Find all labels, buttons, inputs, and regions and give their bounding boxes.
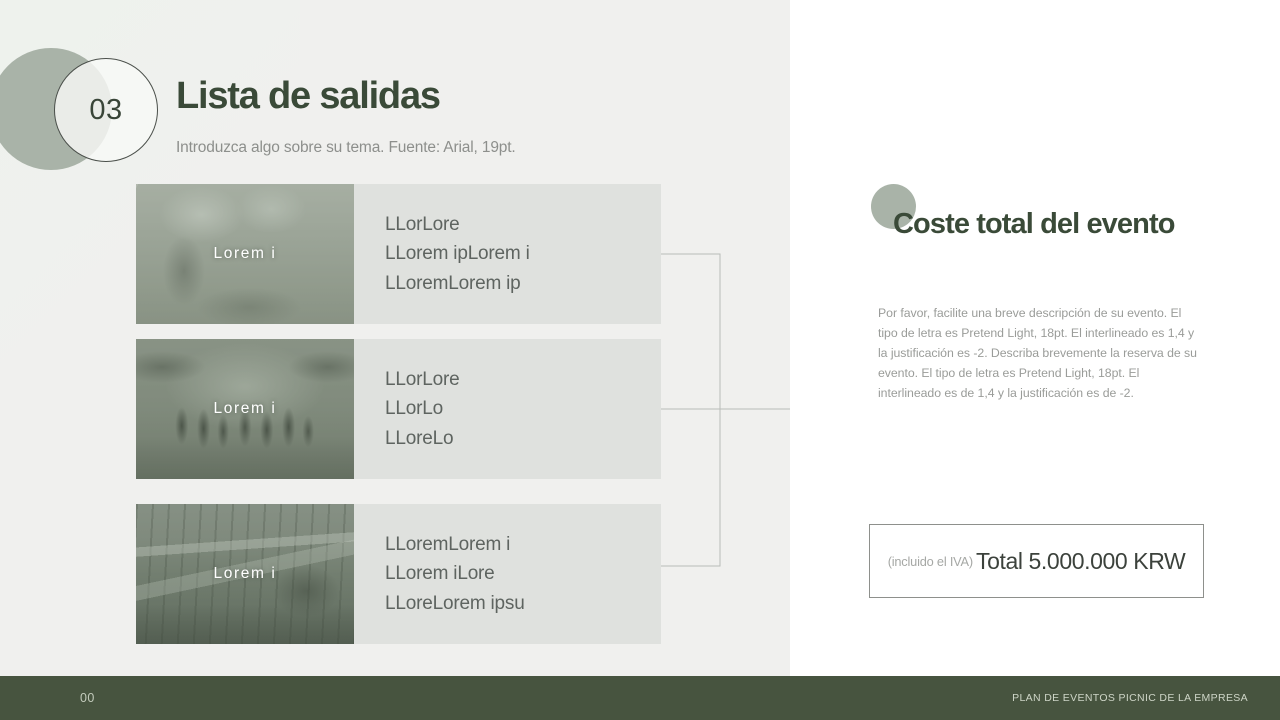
- people-jumping-photo: Lorem i: [136, 339, 354, 479]
- footer-page-number: 00: [80, 691, 95, 705]
- list-item-line: LLorem ipLorem i: [385, 239, 661, 269]
- list-item-text: LLorLore LLorem ipLorem i LLoremLorem ip: [354, 184, 661, 324]
- list-item-line: LLorLore: [385, 210, 661, 240]
- list-item-text: LLoremLorem i LLorem iLore LLoreLorem ip…: [354, 504, 661, 644]
- list-item-line: LLoreLorem ipsu: [385, 589, 661, 619]
- photo-caption: Lorem i: [214, 400, 277, 418]
- photo-caption: Lorem i: [214, 565, 277, 583]
- list-item-line: LLoreLo: [385, 424, 661, 454]
- list-item-line: LLoremLorem ip: [385, 269, 661, 299]
- list-item-text: LLorLore LLorLo LLoreLo: [354, 339, 661, 479]
- slide-footer: 00 PLAN DE EVENTOS PICNIC DE LA EMPRESA: [0, 676, 1280, 720]
- footer-deck-title: PLAN DE EVENTOS PICNIC DE LA EMPRESA: [1012, 692, 1248, 704]
- cost-panel-body: Por favor, facilite una breve descripció…: [878, 303, 1200, 403]
- list-item-line: LLorLo: [385, 394, 661, 424]
- buses-row-photo: Lorem i: [136, 504, 354, 644]
- section-number-badge: 03: [54, 58, 158, 162]
- cost-panel-title: Coste total del evento: [893, 208, 1175, 241]
- event-hall-photo: Lorem i: [136, 184, 354, 324]
- list-item-line: LLorLore: [385, 365, 661, 395]
- page-title: Lista de salidas: [176, 76, 440, 118]
- total-cost-box: (incluido el IVA) Total 5.000.000 KRW: [869, 524, 1204, 598]
- total-amount: Total 5.000.000 KRW: [976, 548, 1185, 575]
- vat-note: (incluido el IVA): [888, 554, 973, 569]
- list-item-line: LLoremLorem i: [385, 530, 661, 560]
- list-item[interactable]: Lorem i LLorLore LLorLo LLoreLo: [136, 339, 661, 479]
- section-number-text: 03: [89, 96, 122, 125]
- list-item[interactable]: Lorem i LLoremLorem i LLorem iLore LLore…: [136, 504, 661, 644]
- photo-caption: Lorem i: [214, 245, 277, 263]
- slide-canvas: 03 Lista de salidas Introduzca algo sobr…: [0, 0, 1280, 720]
- list-item-line: LLorem iLore: [385, 559, 661, 589]
- page-subtitle: Introduzca algo sobre su tema. Fuente: A…: [176, 139, 516, 157]
- list-item[interactable]: Lorem i LLorLore LLorem ipLorem i LLorem…: [136, 184, 661, 324]
